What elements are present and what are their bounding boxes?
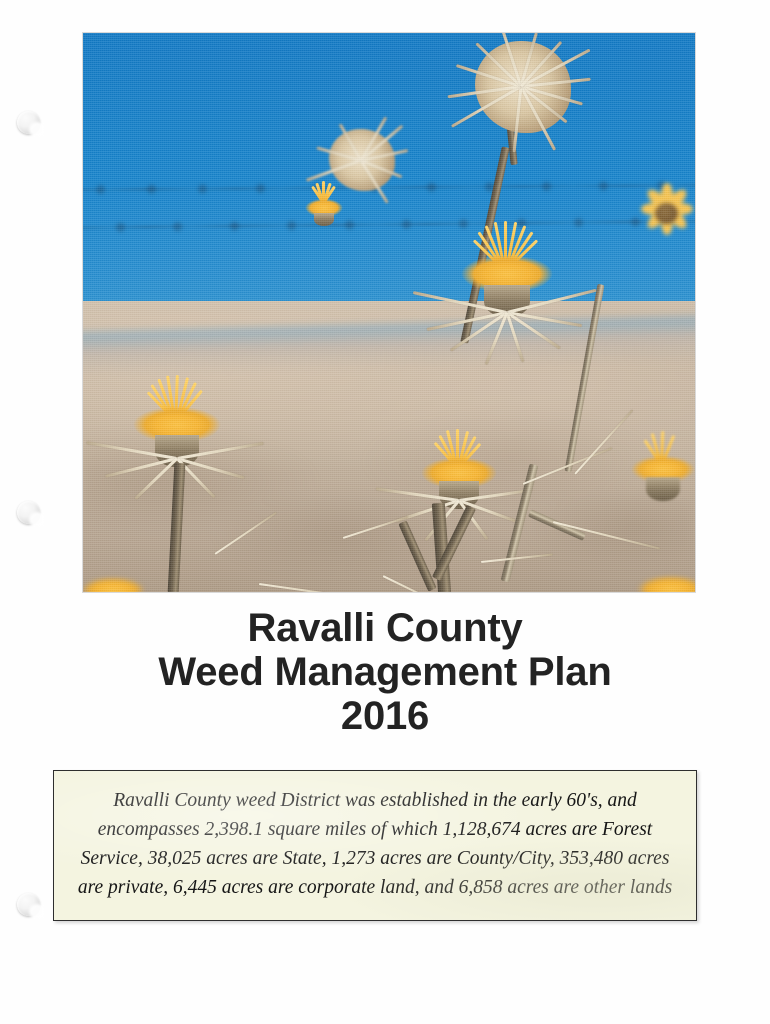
title-line-2: Weed Management Plan	[0, 650, 770, 694]
district-statement-text: Ravalli County weed District was establi…	[68, 786, 682, 902]
page-title: Ravalli County Weed Management Plan 2016	[0, 606, 770, 738]
title-line-3: 2016	[0, 694, 770, 738]
hole-punch-middle	[17, 501, 40, 524]
cover-photograph	[83, 33, 695, 592]
hole-punch-bottom	[17, 893, 40, 916]
hole-punch-top	[17, 111, 40, 134]
scanned-page: Ravalli County Weed Management Plan 2016…	[0, 0, 770, 1024]
dried-thistle-seedhead-top	[475, 41, 571, 133]
district-statement-box: Ravalli County weed District was establi…	[53, 770, 697, 921]
background-daisy-flower	[635, 183, 695, 245]
title-line-1: Ravalli County	[0, 606, 770, 650]
center-bloom-spines	[451, 285, 563, 355]
scattered-spines	[83, 433, 695, 592]
starthistle-bloom-upper-left	[301, 181, 347, 225]
